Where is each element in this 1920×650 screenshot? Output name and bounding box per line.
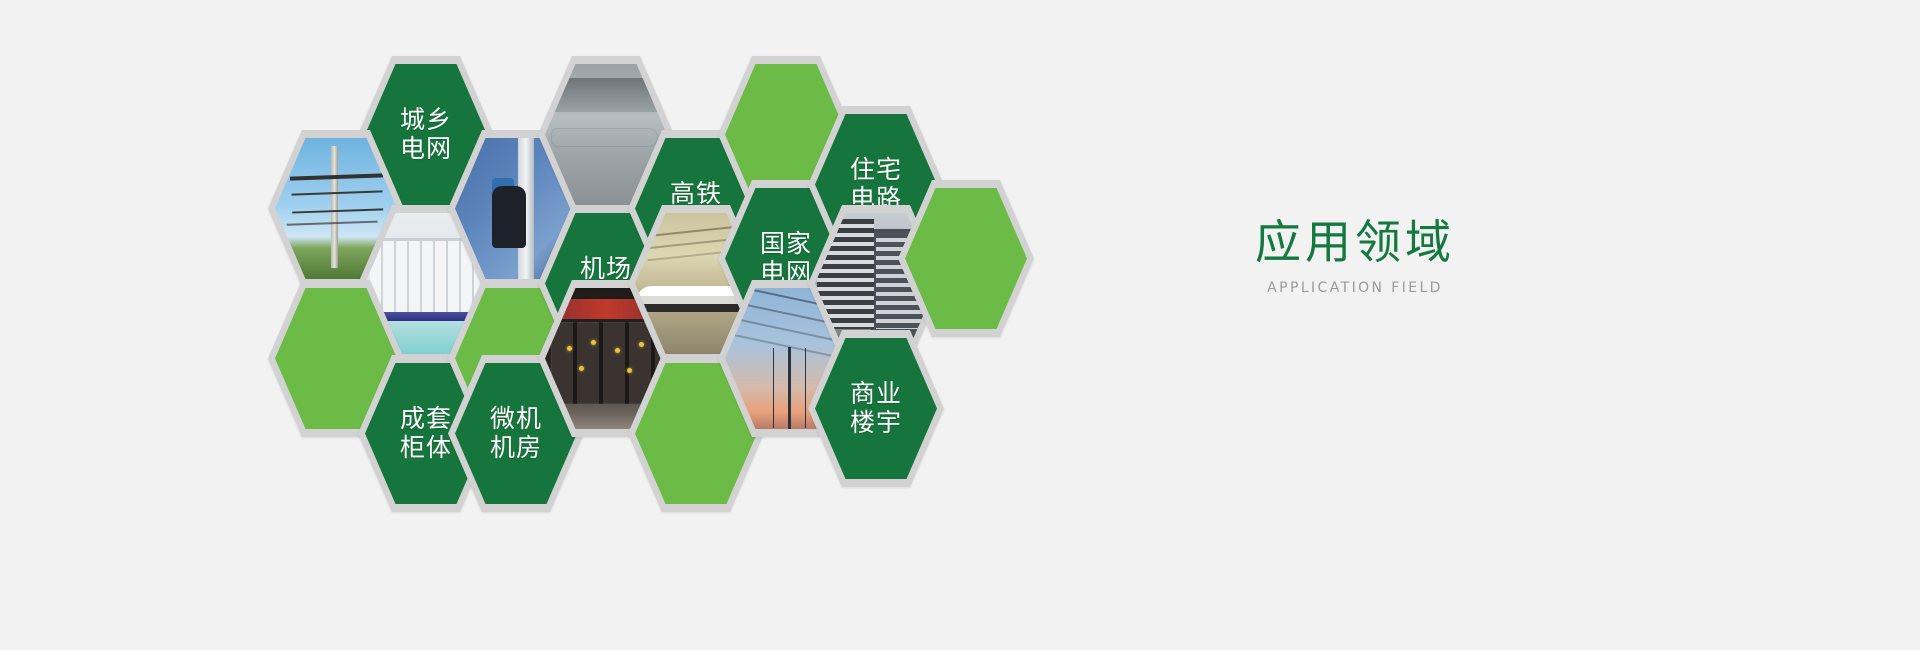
cell-microcomputer-room-label: 微机 机房 xyxy=(490,405,542,462)
heading-block: 应用领域 APPLICATION FIELD xyxy=(1145,215,1565,296)
cell-urban-rural-grid-label: 城乡 电网 xyxy=(400,106,452,163)
application-field-banner: 城乡 电网成套 柜体微机 机房机场 电路高铁 电路国家 电网住宅 电路商业 楼宇… xyxy=(0,0,1920,650)
hexagon-honeycomb: 城乡 电网成套 柜体微机 机房机场 电路高铁 电路国家 电网住宅 电路商业 楼宇 xyxy=(0,0,1100,650)
cell-commercial-building-label: 商业 楼宇 xyxy=(850,380,902,437)
indicator-lamp-icon xyxy=(615,348,620,353)
indicator-lamp-icon xyxy=(579,366,584,371)
page-subtitle: APPLICATION FIELD xyxy=(1145,280,1565,296)
indicator-lamp-icon xyxy=(567,346,572,351)
indicator-lamp-icon xyxy=(591,340,596,345)
cell-blank-far-right[interactable] xyxy=(898,180,1034,337)
cell-commercial-building[interactable]: 商业 楼宇 xyxy=(808,330,944,487)
page-title: 应用领域 xyxy=(1145,215,1565,270)
cell-switchgear-assembly-label: 成套 柜体 xyxy=(400,405,452,462)
cell-state-grid-label: 国家 电网 xyxy=(760,230,812,287)
